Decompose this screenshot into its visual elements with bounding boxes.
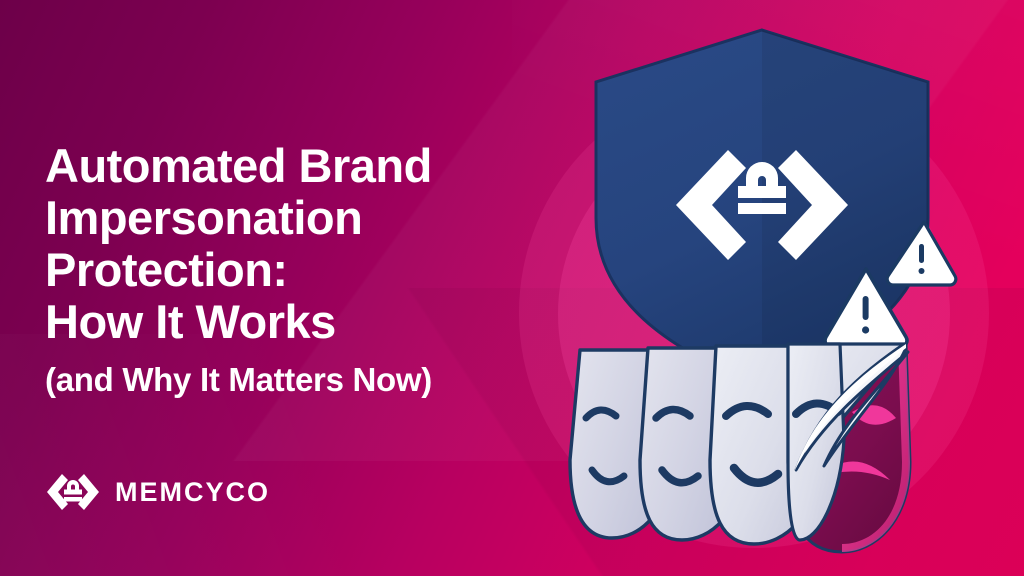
theater-mask-peeling-angry-icon xyxy=(788,344,910,552)
headline-line-1: Automated Brand xyxy=(45,140,565,192)
headline-line-3: Protection: xyxy=(45,244,565,296)
page-title: Automated Brand Impersonation Protection… xyxy=(45,140,565,348)
memcyco-logo[interactable]: MEMCYCO xyxy=(45,466,270,518)
headline-line-2: Impersonation xyxy=(45,192,565,244)
logo-wordmark: MEMCYCO xyxy=(115,477,270,508)
hero-illustration xyxy=(500,0,1024,576)
lock-in-chevrons-icon xyxy=(45,466,101,518)
headline-block: Automated Brand Impersonation Protection… xyxy=(45,140,565,400)
sub-headline: (and Why It Matters Now) xyxy=(45,360,565,400)
headline-line-4: How It Works xyxy=(45,296,565,348)
banner-hero: Automated Brand Impersonation Protection… xyxy=(0,0,1024,576)
